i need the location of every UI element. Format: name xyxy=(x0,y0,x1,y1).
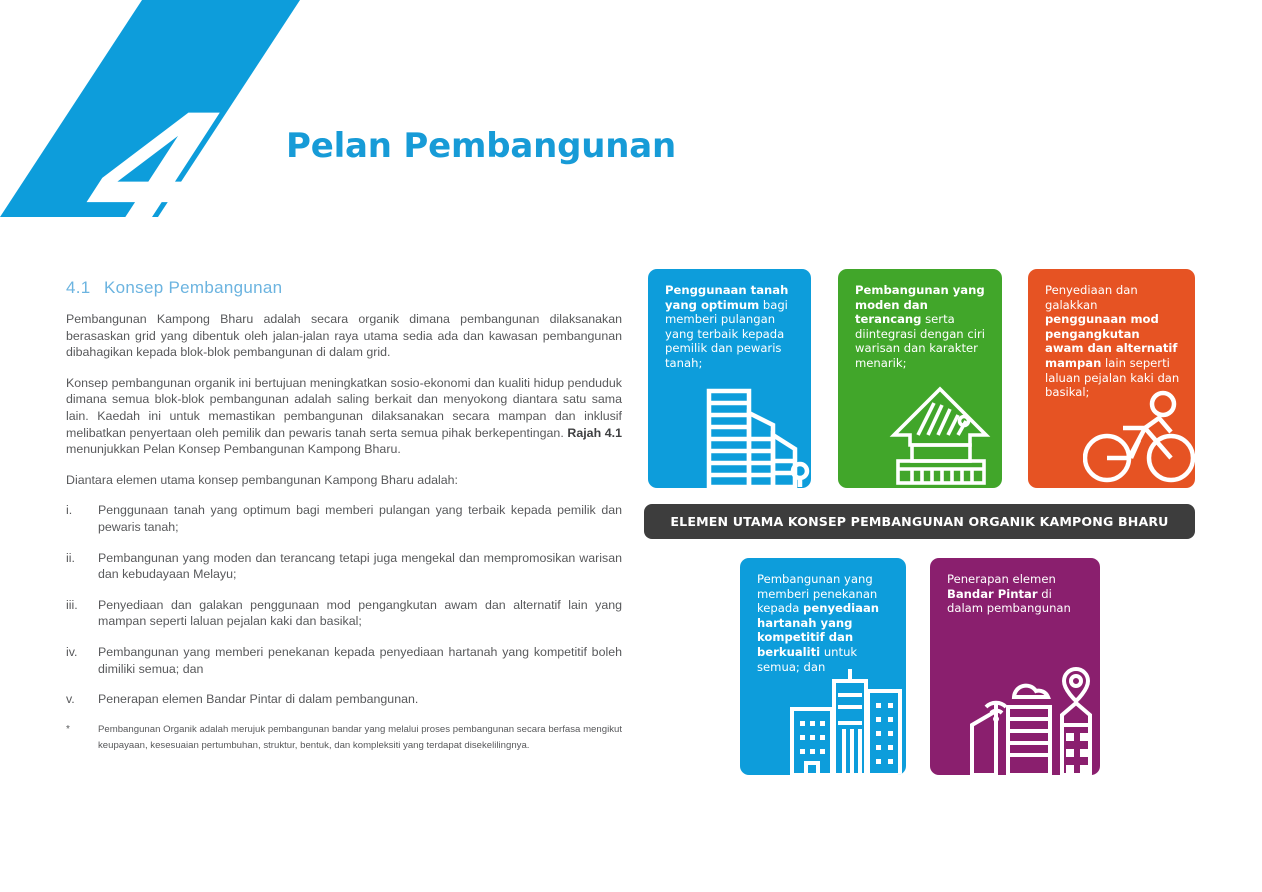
list-item-marker: v. xyxy=(66,691,98,708)
wifi-arc-inner xyxy=(991,711,1002,713)
card-smart-city: Penerapan elemen Bandar Pintar di dalam … xyxy=(930,558,1100,775)
card-sustainable-transport: Penyediaan dan galakkan penggunaan mod p… xyxy=(1028,269,1195,488)
list-item-text: Penyediaan dan galakan penggunaan mod pe… xyxy=(98,597,622,630)
footnote: * Pembangunan Organik adalah merujuk pem… xyxy=(66,722,622,755)
list-item: i. Penggunaan tanah yang optimum bagi me… xyxy=(66,502,622,535)
card-text: Penyediaan dan galakkan penggunaan mod p… xyxy=(1045,283,1182,400)
list-item-text: Penerapan elemen Bandar Pintar di dalam … xyxy=(98,691,622,708)
paragraph-1: Pembangunan Kampong Bharu adalah secara … xyxy=(66,311,622,361)
section-heading: 4.1Konsep Pembangunan xyxy=(66,278,622,298)
page-title: Pelan Pembangunan xyxy=(286,126,676,166)
list-item: ii. Pembangunan yang moden dan terancang… xyxy=(66,550,622,583)
card-optimum-land-use: Penggunaan tanah yang optimum bagi membe… xyxy=(648,269,811,488)
card-text: Pembangunan yang moden dan terancang ser… xyxy=(855,283,989,371)
infographic-banner: ELEMEN UTAMA KONSEP PEMBANGUNAN ORGANIK … xyxy=(644,504,1195,539)
banner-text: ELEMEN UTAMA KONSEP PEMBANGUNAN ORGANIK … xyxy=(670,514,1168,529)
section-title: Konsep Pembangunan xyxy=(104,278,282,297)
left-text-column: 4.1Konsep Pembangunan Pembangunan Kampon… xyxy=(66,278,622,755)
list-item: v. Penerapan elemen Bandar Pintar di dal… xyxy=(66,691,622,708)
list-item-marker: i. xyxy=(66,502,98,535)
cyclist-icon xyxy=(1083,388,1195,488)
card-text: Penggunaan tanah yang optimum bagi membe… xyxy=(665,283,798,371)
footnote-marker: * xyxy=(66,722,98,755)
list-item-marker: iii. xyxy=(66,597,98,630)
list-item-text: Pembangunan yang moden dan terancang tet… xyxy=(98,550,622,583)
card-text-bold: Bandar Pintar xyxy=(947,587,1038,601)
card-text-normal-1: Penerapan elemen xyxy=(947,572,1056,586)
infographic-panel: Penggunaan tanah yang optimum bagi membe… xyxy=(640,255,1210,785)
chapter-number: 4 xyxy=(0,0,300,230)
paragraph-2: Konsep pembangunan organik ini bertujuan… xyxy=(66,375,622,458)
paragraph-2-part-a: Konsep pembangunan organik ini bertujuan… xyxy=(66,376,622,440)
list-item-marker: iv. xyxy=(66,644,98,677)
section-number: 4.1 xyxy=(66,278,104,298)
footnote-text: Pembangunan Organik adalah merujuk pemba… xyxy=(98,722,622,755)
list-item: iv. Pembangunan yang memberi penekanan k… xyxy=(66,644,622,677)
office-buildings-icon xyxy=(691,373,811,488)
city-buildings-icon xyxy=(776,665,906,775)
paragraph-2-part-b: menunjukkan Pelan Konsep Pembangunan Kam… xyxy=(66,442,401,456)
list-item-text: Pembangunan yang memberi penekanan kepad… xyxy=(98,644,622,677)
malay-traditional-house-icon xyxy=(872,383,1002,488)
card-text-bold: Pembangunan yang moden dan terancang xyxy=(855,283,985,326)
list-intro: Diantara elemen utama konsep pembangunan… xyxy=(66,472,622,489)
list-item-marker: ii. xyxy=(66,550,98,583)
list-item: iii. Penyediaan dan galakan penggunaan m… xyxy=(66,597,622,630)
card-modern-planned-heritage: Pembangunan yang moden dan terancang ser… xyxy=(838,269,1002,488)
chapter-number-text: 4 xyxy=(51,96,251,246)
card-quality-affordable-property: Pembangunan yang memberi penekanan kepad… xyxy=(740,558,906,775)
card-text: Penerapan elemen Bandar Pintar di dalam … xyxy=(947,572,1087,616)
card-text: Pembangunan yang memberi penekanan kepad… xyxy=(757,572,893,674)
card-text-normal-1: Penyediaan dan galakkan xyxy=(1045,283,1138,312)
list-item-text: Penggunaan tanah yang optimum bagi membe… xyxy=(98,502,622,535)
paragraph-2-figure-ref: Rajah 4.1 xyxy=(567,426,622,440)
smart-city-icon xyxy=(962,663,1100,775)
page-header: 4 Pelan Pembangunan xyxy=(0,0,700,230)
